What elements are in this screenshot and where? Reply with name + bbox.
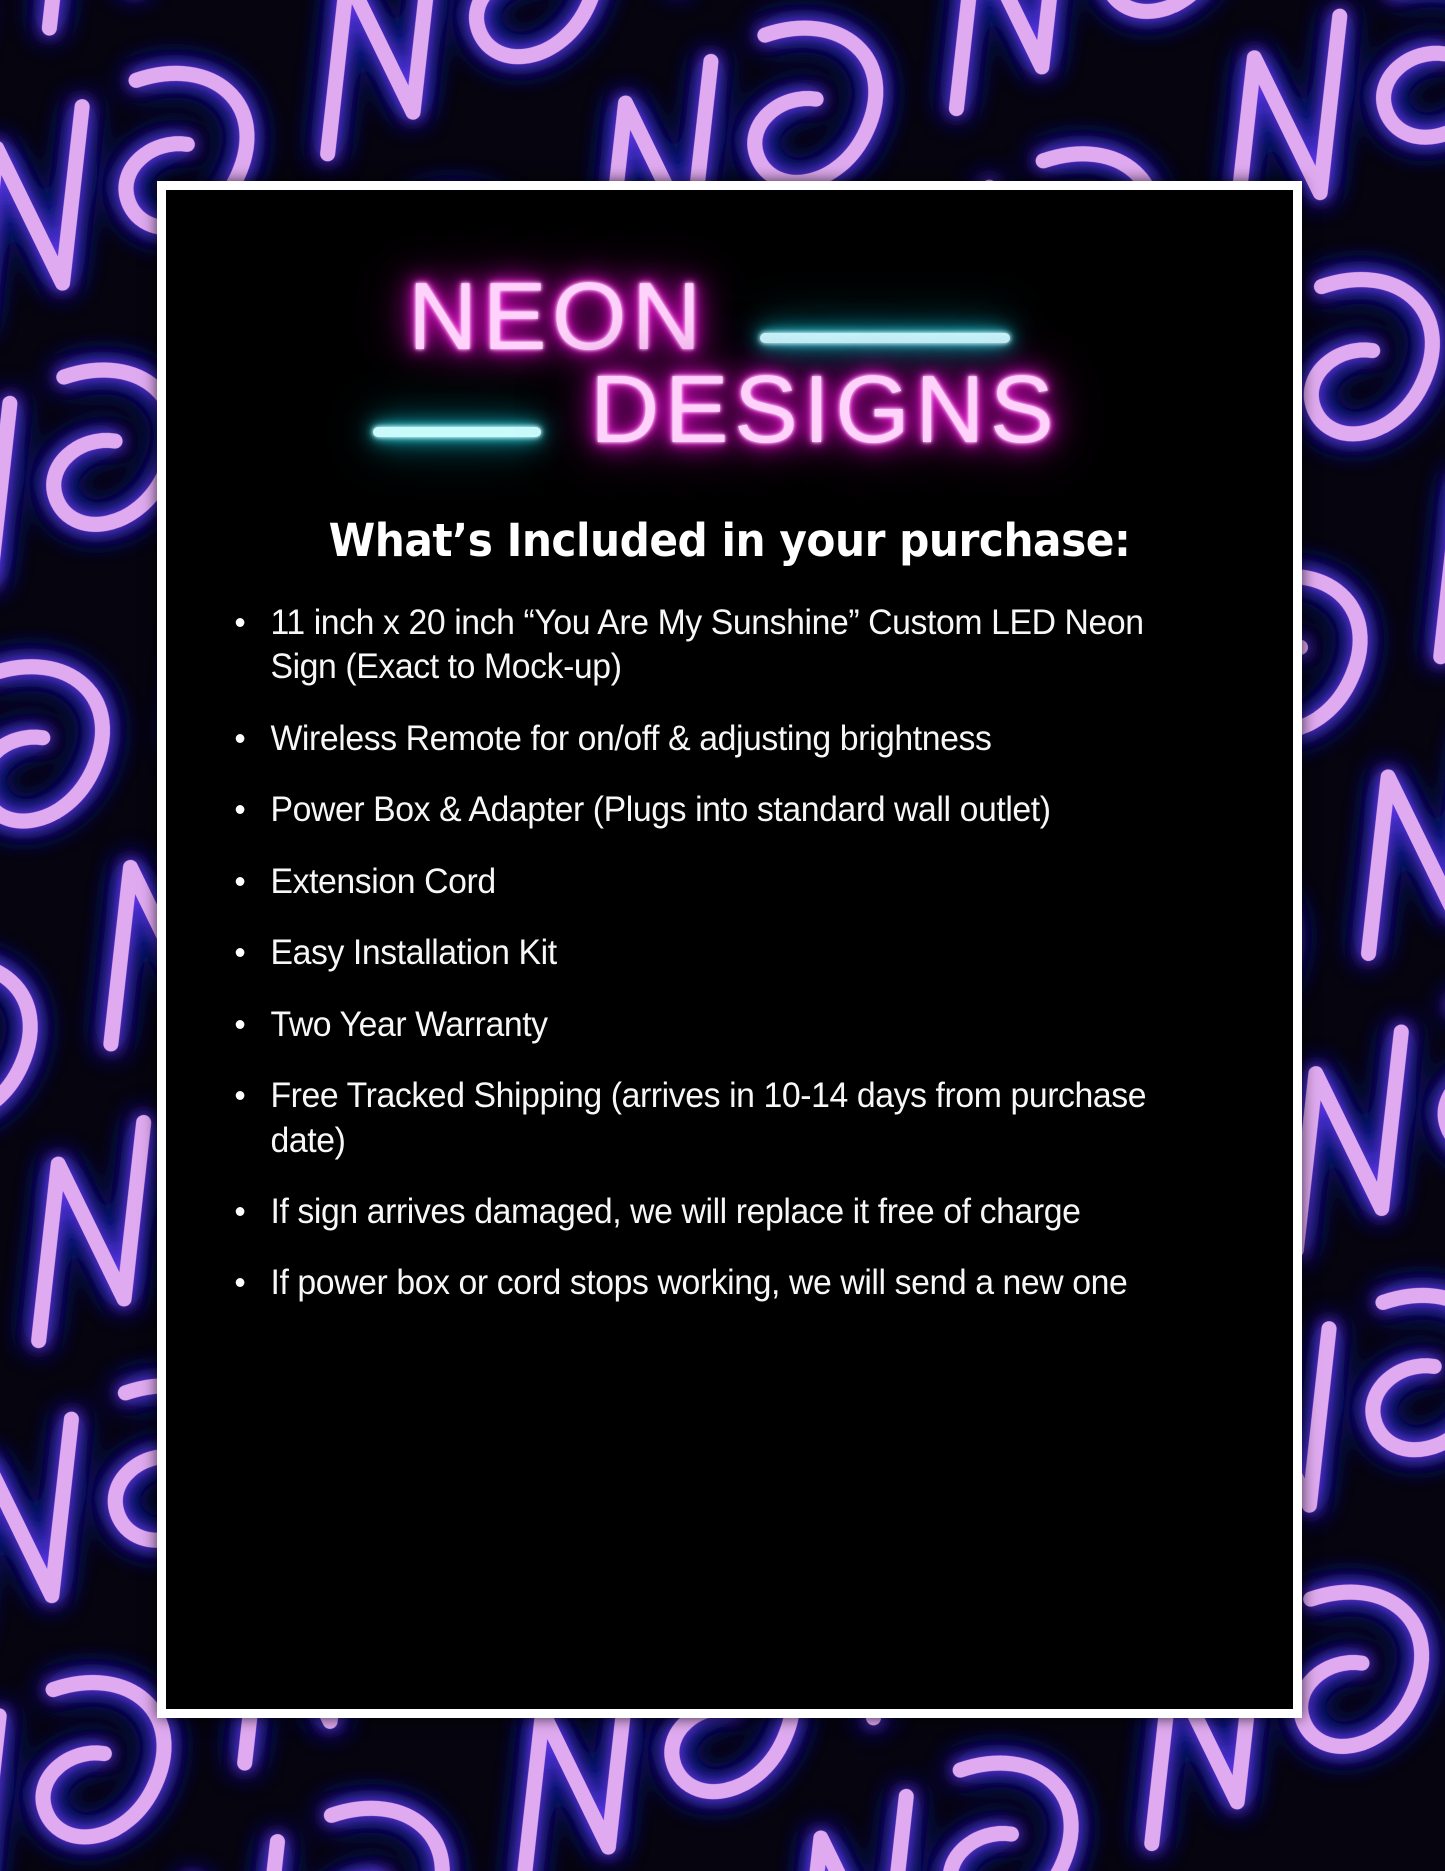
content-panel: NEON DESIGNS What’s Included in your pur… [166,190,1293,1709]
included-items-list: 11 inch x 20 inch “You Are My Sunshine” … [228,601,1231,1306]
list-item: Power Box & Adapter (Plugs into standard… [228,788,1196,832]
list-item: If power box or cord stops working, we w… [228,1261,1196,1305]
list-item: Two Year Warranty [228,1003,1196,1047]
list-item: If sign arrives damaged, we will replace… [228,1190,1196,1234]
cyan-bar-bottom-icon [373,427,541,437]
list-item: Free Tracked Shipping (arrives in 10-14 … [228,1074,1196,1163]
neon-designs-logo: NEON DESIGNS [166,238,1293,488]
list-item: Easy Installation Kit [228,931,1196,975]
list-item: Wireless Remote for on/off & adjusting b… [228,717,1196,761]
cyan-bar-top-icon [760,333,1010,343]
list-item: 11 inch x 20 inch “You Are My Sunshine” … [228,601,1196,690]
page-title: What’s Included in your purchase: [200,514,1259,567]
list-item: Extension Cord [228,860,1196,904]
content-frame: NEON DESIGNS What’s Included in your pur… [157,181,1302,1718]
logo-word-designs: DESIGNS [590,355,1059,465]
